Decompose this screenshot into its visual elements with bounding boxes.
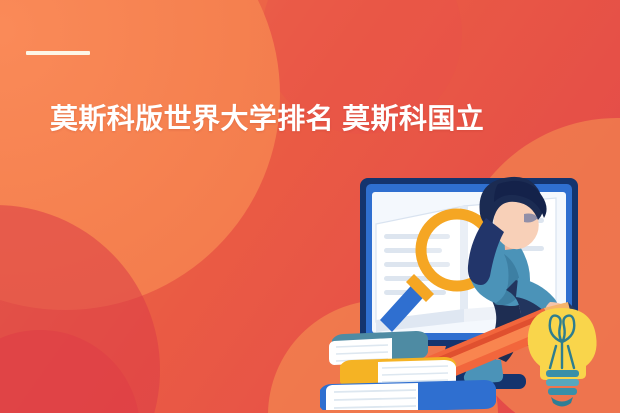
headline-area: 莫斯科版世界大学排名 莫斯科国立 [0,0,620,170]
page-title: 莫斯科版世界大学排名 莫斯科国立 [50,98,610,140]
bulb-base [546,370,579,407]
background-blob-bottom-left [0,330,140,413]
decorative-rule [26,51,90,55]
background-blob-lower-left [0,205,160,413]
promo-banner: 莫斯科版世界大学排名 莫斯科国立 [0,0,620,413]
hero-illustration [318,162,610,410]
lightbulb-icon [528,308,597,407]
